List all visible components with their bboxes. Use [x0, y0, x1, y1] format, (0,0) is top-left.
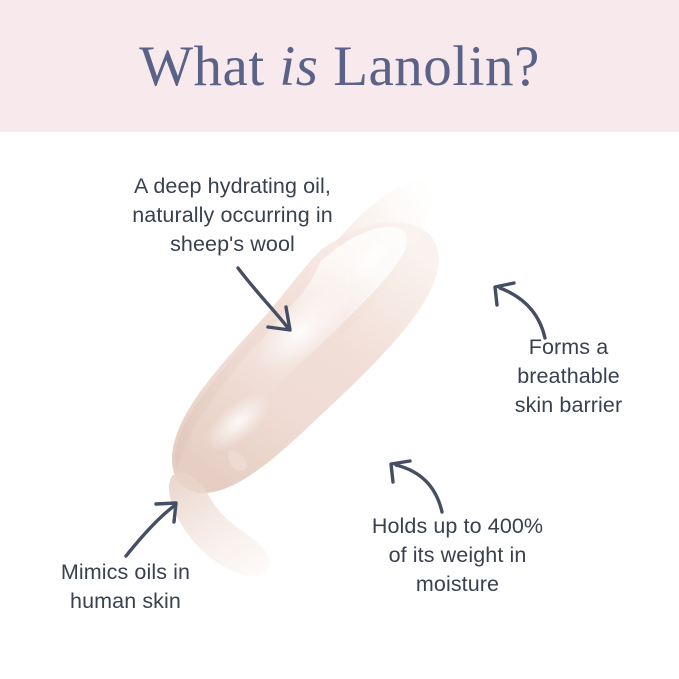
- callout-label-barrier: Forms a breathable skin barrier: [466, 333, 671, 419]
- header-band: What is Lanolin?: [0, 0, 679, 132]
- callout-label-hydrating: A deep hydrating oil, naturally occurrin…: [80, 172, 385, 258]
- callout-label-moisture: Holds up to 400% of its weight in moistu…: [330, 512, 585, 598]
- page-title: What is Lanolin?: [0, 0, 679, 132]
- page-title-part1: What: [139, 38, 279, 95]
- page-title-emphasis: is: [279, 38, 318, 95]
- lanolin-infographic: What is Lanolin?: [0, 0, 679, 679]
- callout-label-mimics: Mimics oils in human skin: [18, 558, 233, 616]
- page-title-part2: Lanolin?: [318, 38, 539, 95]
